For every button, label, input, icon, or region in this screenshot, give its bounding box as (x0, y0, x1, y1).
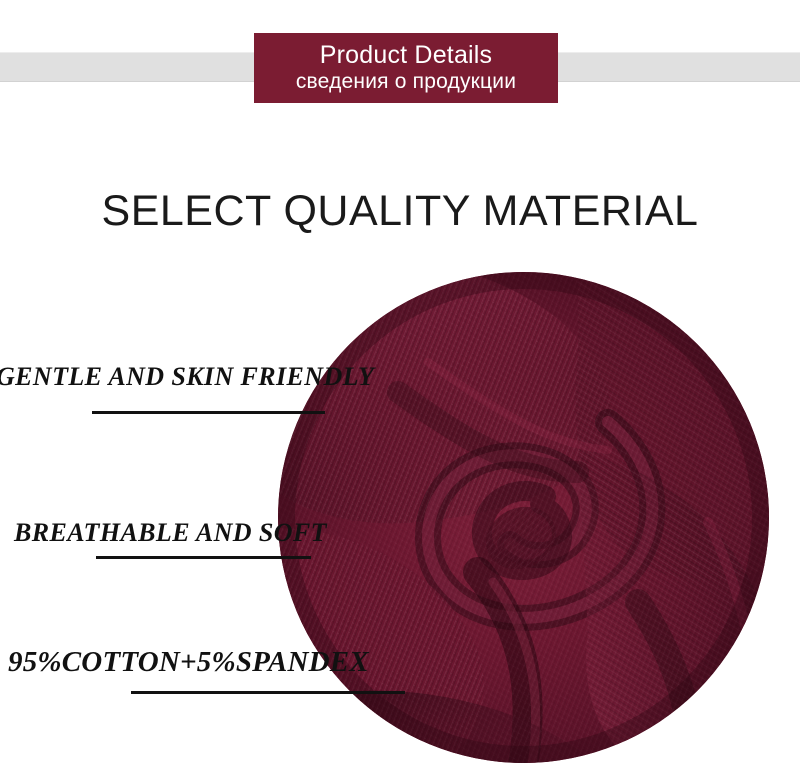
feature-label-fabric-composition: 95%COTTON+5%SPANDEX (8, 646, 369, 679)
feature-label-gentle-and-skin-friendly: GENTLE AND SKIN FRIENDLY (0, 362, 374, 392)
product-details-banner: Product Details сведения о продукции (254, 33, 558, 103)
product-details-page: Product Details сведения о продукции SEL… (0, 0, 800, 778)
feature-underline-2 (96, 556, 311, 559)
burgundy-knit-fabric-swirl-image (278, 272, 769, 763)
feature-underline-1 (92, 411, 325, 414)
banner-title-english: Product Details (320, 41, 493, 69)
fabric-photo-circle (278, 272, 769, 763)
feature-label-breathable-and-soft: BREATHABLE AND SOFT (14, 518, 327, 548)
banner-title-russian: сведения о продукции (296, 69, 516, 95)
feature-underline-3 (131, 691, 405, 694)
page-headline: SELECT QUALITY MATERIAL (0, 186, 800, 236)
